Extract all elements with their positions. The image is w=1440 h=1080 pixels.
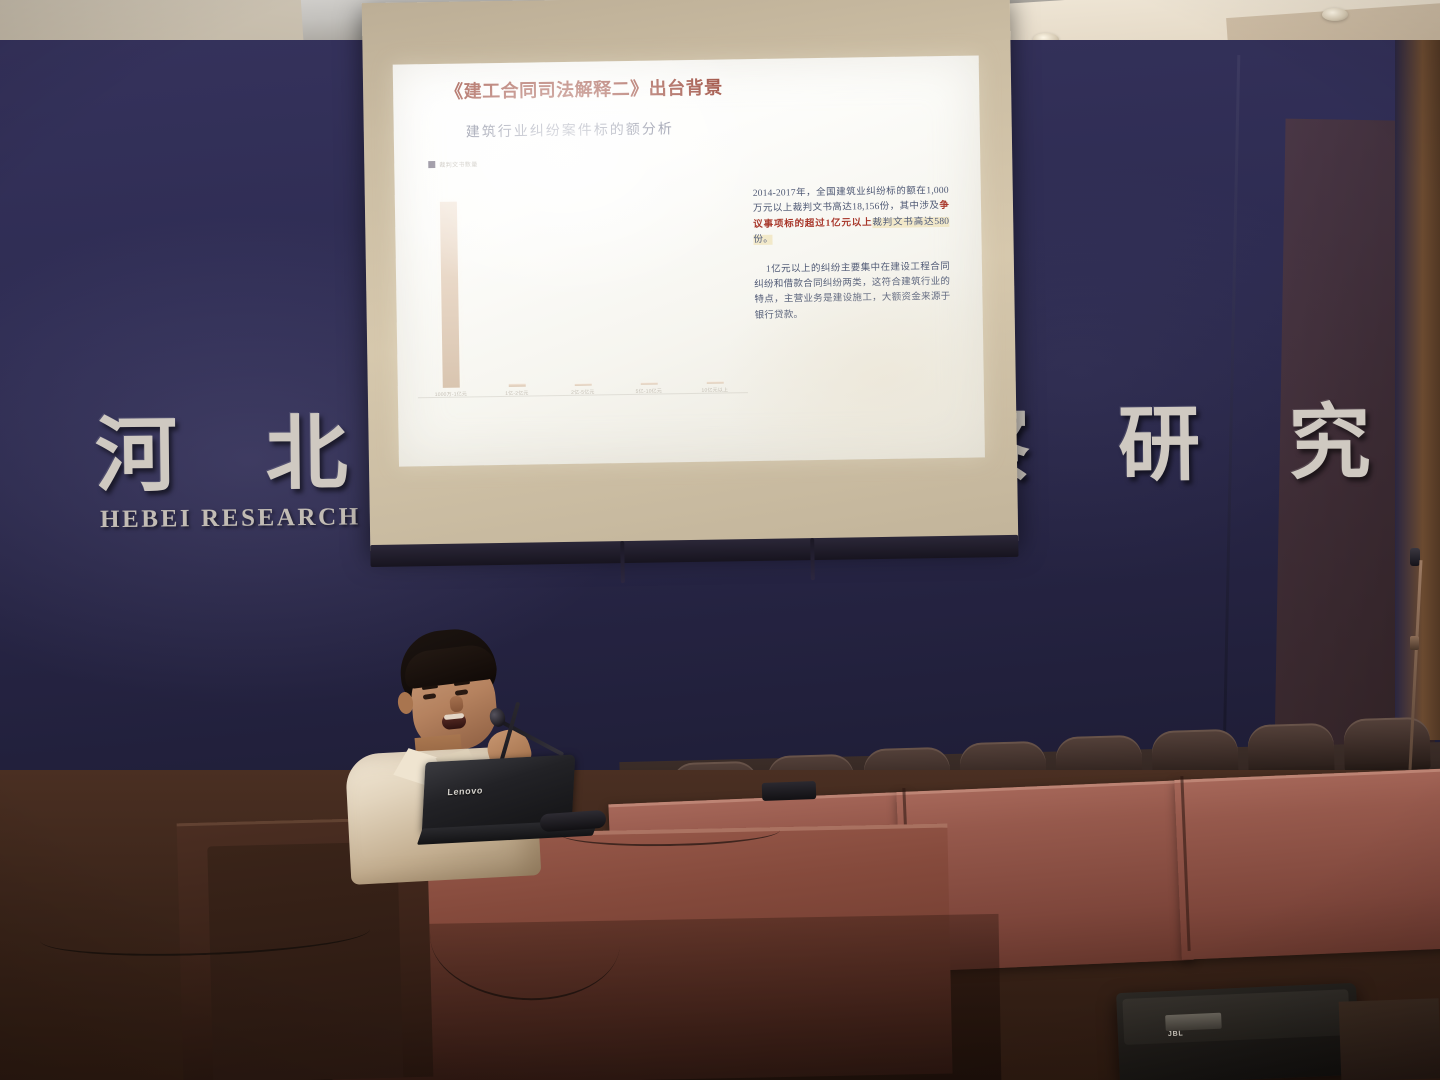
chart-bar <box>706 381 723 383</box>
desk-panel <box>1174 768 1440 960</box>
screen-hanging-strap <box>620 541 625 583</box>
chart-bar-group: 1亿-2亿元 <box>480 168 550 397</box>
chart-bar <box>508 383 525 387</box>
slide-title: 《建工合同司法解释二》出台背景 <box>445 73 723 103</box>
auditorium-chair <box>1343 717 1430 771</box>
legend-swatch-icon <box>428 161 435 168</box>
projection-screen: 《建工合同司法解释二》出台背景 建筑行业纠纷案件标的额分析 裁判文书数量 100… <box>362 0 1019 551</box>
chart-bar-group: 10亿元以上 <box>678 165 748 394</box>
chart-bar <box>439 202 459 388</box>
stage-equipment-right <box>1339 998 1440 1080</box>
laptop-brand-label: Lenovo <box>447 785 483 797</box>
slide-paragraph: 2014-2017年，全国建筑业纠纷标的额在1,000万元以上裁判文书高达18,… <box>753 184 950 249</box>
chart-bar <box>640 383 657 385</box>
slide-text-segment: 1亿元以上的纠纷主要集中在建设工程合同纠纷和借款合同纠纷两类，这符合建筑行业的特… <box>754 261 950 320</box>
downlight-icon <box>1322 8 1348 21</box>
stage-monitor-speaker: JBL <box>1116 983 1360 1080</box>
speaker-brand-label: JBL <box>1168 1030 1184 1038</box>
chart-plot-area: 1000万-1亿元1亿-2亿元2亿-5亿元5亿-10亿元10亿元以上 <box>414 165 748 398</box>
presenter-nose <box>449 695 464 712</box>
microphone-stand-joint <box>1410 636 1419 650</box>
desk-audio-device <box>762 781 817 801</box>
speaker-badge <box>1165 1013 1222 1031</box>
chart-legend: 裁判文书数量 <box>428 159 478 169</box>
chart-bar-group: 1000万-1亿元 <box>414 169 484 398</box>
slide-subtitle: 建筑行业纠纷案件标的额分析 <box>466 118 674 141</box>
slide-text-column: 2014-2017年，全国建筑业纠纷标的额在1,000万元以上裁判文书高达18,… <box>753 184 951 338</box>
chart-bar-group: 5亿-10亿元 <box>612 166 682 395</box>
slide-text-segment: 2014-2017年，全国建筑业纠纷标的额在1,000万元以上裁判文书高达18,… <box>753 186 949 214</box>
chart-bar-group: 2亿-5亿元 <box>546 167 616 396</box>
slide-paragraph: 1亿元以上的纠纷主要集中在建设工程合同纠纷和借款合同纠纷两类，这符合建筑行业的特… <box>754 259 951 324</box>
screen-hanging-strap <box>810 538 815 580</box>
conference-hall-photo: 河 北 建 设 勘 察 研 究 院 有 限 公 司 HEBEI RESEARCH… <box>0 0 1440 1080</box>
chart-legend-label: 裁判文书数量 <box>439 159 478 169</box>
speaker-grille <box>1122 989 1350 1045</box>
bar-chart: 裁判文书数量 1000万-1亿元1亿-2亿元2亿-5亿元5亿-10亿元10亿元以… <box>414 155 748 410</box>
chart-bar <box>574 384 591 386</box>
slide-surface: 《建工合同司法解释二》出台背景 建筑行业纠纷案件标的额分析 裁判文书数量 100… <box>393 55 985 466</box>
